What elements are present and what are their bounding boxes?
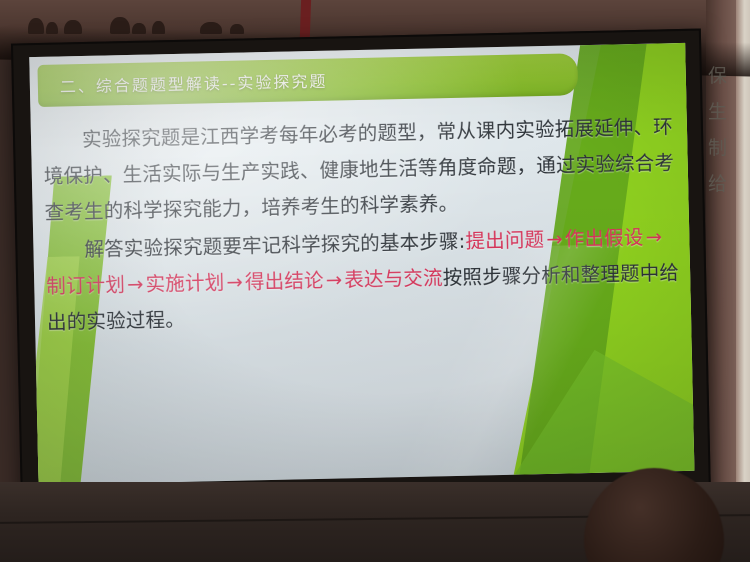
step-5-label: 得出结论 [245, 269, 324, 294]
step-6-label: 表达与交流 [344, 266, 443, 291]
arrow-icon-3: → [125, 273, 146, 296]
arrow-icon-1: → [544, 228, 565, 251]
wall-partial-line-2: 生 [708, 94, 750, 130]
presentation-slide: 二、综合题题型解读--实验探究题 实验探究题是江西学考每年必考的题型，常从课内实… [29, 43, 694, 485]
paragraph-2-lead: 解答实验探究题要牢记科学探究的基本步骤: [84, 230, 465, 261]
arrow-icon-2: → [643, 225, 664, 248]
slide-body: 实验探究题是江西学考每年必考的题型，常从课内实验拓展延伸、环境保护、生活实际与生… [43, 109, 684, 343]
paragraph-1: 实验探究题是江西学考每年必考的题型，常从课内实验拓展延伸、环境保护、生活实际与生… [43, 109, 681, 231]
shelf-object-silhouettes [24, 8, 314, 34]
paragraph-1-line-3: 生的科学探究能力，培养考生的科学素养。 [84, 192, 459, 223]
step-3-label: 制订计划 [46, 273, 125, 298]
classroom-photo-scene: 二、综合题题型解读--实验探究题 实验探究题是江西学考每年必考的题型，常从课内实… [0, 0, 750, 562]
arrow-icon-4: → [224, 271, 245, 294]
paragraph-2-tail-1: 按照步骤分析和整理题中 [443, 261, 660, 289]
slide-title: 二、综合题题型解读--实验探究题 [38, 68, 328, 98]
wall-partial-line-1: 保 [708, 58, 750, 94]
slide-title-banner: 二、综合题题型解读--实验探究题 [37, 53, 578, 107]
projector-screen-frame: 二、综合题题型解读--实验探究题 实验探究题是江西学考每年必考的题型，常从课内实… [11, 29, 711, 514]
paragraph-2: 解答实验探究题要牢记科学探究的基本步骤:提出问题→作出假设→制订计划→实施计划→… [45, 219, 683, 341]
step-4-label: 实施计划 [145, 271, 224, 296]
step-1-label: 提出问题 [465, 228, 544, 253]
wall-partial-line-3: 制 [708, 130, 750, 166]
step-2-label: 作出假设 [565, 226, 644, 251]
arrow-icon-5: → [323, 268, 344, 291]
offscreen-wall-text: 保 生 制 给 [708, 58, 750, 202]
wall-partial-line-4: 给 [708, 166, 750, 202]
